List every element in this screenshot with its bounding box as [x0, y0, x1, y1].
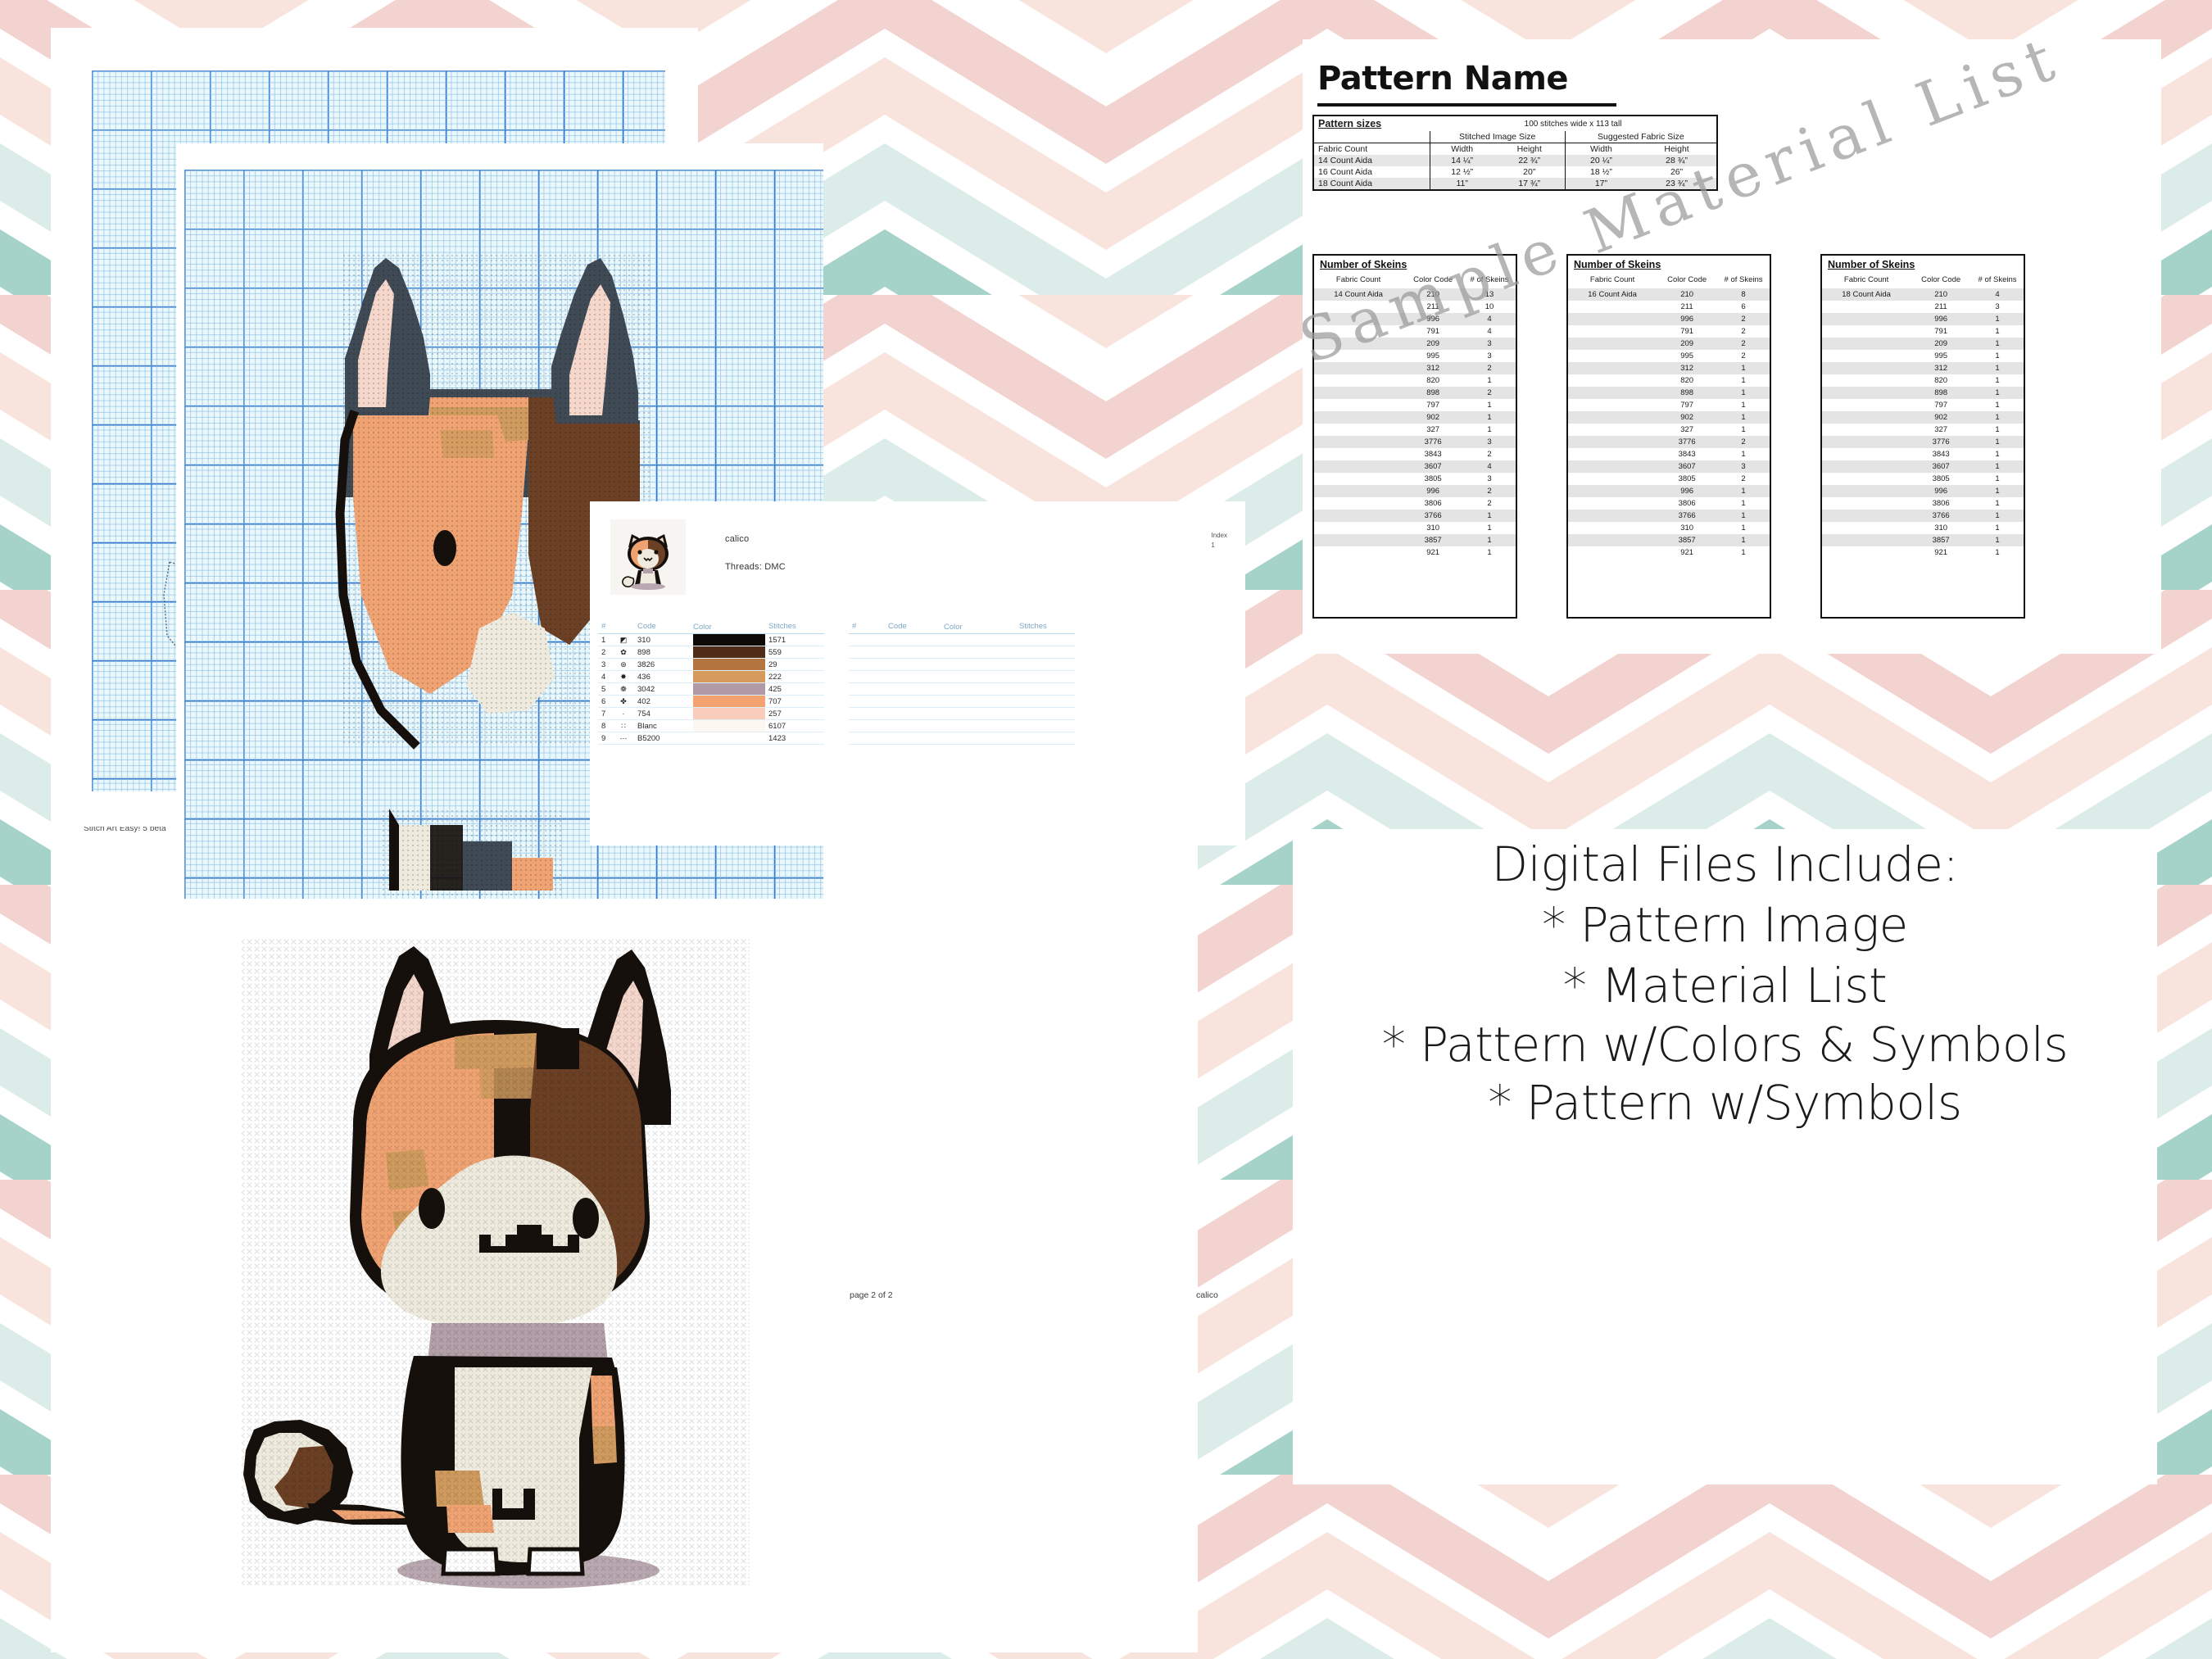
- skein-count: 3: [1463, 350, 1516, 362]
- skein-fabric-count: [1314, 448, 1403, 460]
- legend-tables: # Code Color Stitches 1◩31015712✿8985593…: [598, 620, 1237, 745]
- thread-legend-table-empty: # Code Color Stitches: [849, 620, 1075, 745]
- skein-count: 2: [1463, 448, 1516, 460]
- table-row: 8201: [1314, 374, 1516, 387]
- thread-symbol-icon: ❁: [613, 683, 634, 696]
- pattern-sizes-table: Pattern sizes 100 stitches wide x 113 ta…: [1312, 115, 1718, 191]
- skein-count: 1: [1463, 424, 1516, 436]
- skein-fabric-count: [1568, 534, 1657, 546]
- legend-pattern-title: calico: [725, 534, 749, 544]
- skein-count: 1: [1971, 473, 2024, 485]
- pattern-footer: calico: [1196, 1290, 1218, 1300]
- thread-stitch-count: 707: [765, 696, 824, 708]
- pattern-sizes-note: 100 stitches wide x 113 tall: [1430, 116, 1717, 131]
- thread-color-swatch: [693, 696, 765, 708]
- skein-color-code: 996: [1911, 313, 1971, 325]
- promo-item-2: * Pattern w/Colors & Symbols: [1312, 1017, 2139, 1072]
- skein-color-code: 327: [1911, 424, 1971, 436]
- table-row: 37661: [1314, 510, 1516, 522]
- skein-fabric-count: [1314, 534, 1403, 546]
- skein-fabric-count: [1568, 473, 1657, 485]
- skein-count: 1: [1463, 411, 1516, 424]
- skein-count: 1: [1717, 497, 1770, 510]
- table-row: 7911: [1822, 325, 2024, 338]
- skein-table: Fabric CountColor Code# of Skeins16 Coun…: [1568, 273, 1770, 559]
- skein-count: 3: [1717, 460, 1770, 473]
- skein-count: 1: [1463, 534, 1516, 546]
- pattern-sizes-body: 14 Count Aida14 ¼”22 ¾”20 ¼”28 ¾”16 Coun…: [1313, 155, 1717, 190]
- table-row: 8201: [1568, 374, 1770, 387]
- table-row: 4✸436222: [598, 671, 824, 683]
- skein-count: 1: [1971, 510, 2024, 522]
- table-row: 7912: [1568, 325, 1770, 338]
- table-row: 9961: [1822, 313, 2024, 325]
- col-header-stitched-width: Width: [1430, 143, 1494, 156]
- skein-color-code: 312: [1657, 362, 1717, 374]
- col-header-fabric-count: Fabric Count: [1314, 273, 1403, 288]
- skein-fabric-count: [1822, 534, 1911, 546]
- skein-fabric-count: [1822, 350, 1911, 362]
- skein-color-code: 3857: [1657, 534, 1717, 546]
- table-row: 8981: [1822, 387, 2024, 399]
- promo-item-0: * Pattern Image: [1542, 895, 1908, 955]
- legend-index: Index 1: [1211, 531, 1227, 550]
- skein-count: 2: [1717, 473, 1770, 485]
- thread-symbol-icon: ◩: [613, 634, 634, 646]
- skein-count: 1: [1463, 399, 1516, 411]
- skein-fabric-count: [1314, 497, 1403, 510]
- col-header-color-code: Color Code: [1911, 273, 1971, 288]
- skein-count: 1: [1971, 387, 2024, 399]
- col-header-skeins: # of Skeins: [1717, 273, 1770, 288]
- col-header-fabric-count: Fabric Count: [1313, 143, 1430, 156]
- thumbnail-cat-icon: [610, 519, 686, 595]
- skein-color-code: 797: [1911, 399, 1971, 411]
- skein-count: 10: [1463, 301, 1516, 313]
- skein-count: 3: [1463, 338, 1516, 350]
- skein-table-14count: Number of SkeinsFabric CountColor Code# …: [1312, 254, 1517, 619]
- table-row: [849, 696, 1075, 708]
- table-row: 9021: [1314, 411, 1516, 424]
- size-stitched-width: 11”: [1430, 178, 1494, 190]
- table-row: 9962: [1568, 313, 1770, 325]
- col-header-stitched-height: Height: [1494, 143, 1565, 156]
- thread-legend-page[interactable]: calico Threads: DMC Index 1 # Code Color…: [590, 501, 1245, 845]
- skein-count: 1: [1971, 460, 2024, 473]
- skein-fabric-count: [1822, 387, 1911, 399]
- col-header-stitches: Stitches: [1016, 620, 1075, 634]
- skein-table-title: Number of Skeins: [1314, 256, 1516, 273]
- pattern-sizes-column-row: Fabric Count Width Height Width Height: [1313, 143, 1717, 156]
- skein-color-code: 327: [1657, 424, 1717, 436]
- table-row: 2093: [1314, 338, 1516, 350]
- size-fabric-count: 18 Count Aida: [1313, 178, 1430, 190]
- thread-symbol-icon: ·: [613, 708, 634, 720]
- skein-fabric-count: [1822, 485, 1911, 497]
- col-header-stitches: Stitches: [765, 620, 824, 634]
- skein-count: 1: [1463, 374, 1516, 387]
- skein-count: 1: [1971, 424, 2024, 436]
- skein-color-code: 211: [1657, 301, 1717, 313]
- promo-heading: Digital Files Include:: [1492, 834, 1959, 895]
- thread-stitch-count: 222: [765, 671, 824, 683]
- skein-count: 1: [1717, 510, 1770, 522]
- thread-symbol-icon: ⋯: [613, 732, 634, 745]
- skein-color-code: 995: [1657, 350, 1717, 362]
- col-header-fabric-height: Height: [1637, 143, 1717, 156]
- table-row: 38062: [1314, 497, 1516, 510]
- skein-color-code: 921: [1911, 546, 1971, 559]
- skein-color-code: 3843: [1657, 448, 1717, 460]
- legend-index-value: 1: [1211, 542, 1214, 549]
- table-row: 9211: [1314, 546, 1516, 559]
- legend-threads-brand: Threads: DMC: [725, 562, 786, 572]
- skein-fabric-count: [1568, 350, 1657, 362]
- skein-color-code: 820: [1911, 374, 1971, 387]
- skein-fabric-count: [1568, 325, 1657, 338]
- skein-count: 1: [1463, 546, 1516, 559]
- skein-fabric-count: [1568, 485, 1657, 497]
- col-header-symbol: [613, 620, 634, 634]
- size-stitched-width: 14 ¼”: [1430, 155, 1494, 166]
- skein-count: 3: [1463, 473, 1516, 485]
- col-header-code: Code: [634, 620, 693, 634]
- skein-fabric-count: [1314, 473, 1403, 485]
- skein-color-code: 209: [1911, 338, 1971, 350]
- skein-fabric-count: 18 Count Aida: [1822, 288, 1911, 301]
- skein-fabric-count: [1822, 325, 1911, 338]
- material-list-sheet: Pattern Name Pattern sizes 100 stitches …: [1303, 39, 2161, 654]
- skein-count: 6: [1717, 301, 1770, 313]
- thread-code: 402: [634, 696, 693, 708]
- skein-fabric-count: [1822, 411, 1911, 424]
- skein-count: 1: [1971, 546, 2024, 559]
- thread-stitch-count: 257: [765, 708, 824, 720]
- col-header-number: #: [849, 620, 863, 634]
- table-row: 9211: [1568, 546, 1770, 559]
- skein-count: 2: [1717, 313, 1770, 325]
- table-row: 38431: [1822, 448, 2024, 460]
- skein-count: 4: [1971, 288, 2024, 301]
- thread-code: B5200: [634, 732, 693, 745]
- skein-count: 1: [1717, 448, 1770, 460]
- skein-fabric-count: [1568, 301, 1657, 313]
- size-fabric-height: 23 ¾”: [1637, 178, 1717, 190]
- table-row: 37661: [1822, 510, 2024, 522]
- thread-symbol-icon: ⊛: [613, 659, 634, 671]
- col-header-skeins: # of Skeins: [1971, 273, 2024, 288]
- skein-color-code: 3805: [1403, 473, 1463, 485]
- skein-count: 1: [1717, 374, 1770, 387]
- table-row: [849, 671, 1075, 683]
- group-header-stitched: Stitched Image Size: [1430, 131, 1565, 143]
- skein-count: 2: [1463, 387, 1516, 399]
- skein-color-code: 791: [1657, 325, 1717, 338]
- thread-color-swatch: [693, 634, 765, 646]
- skein-count: 2: [1463, 362, 1516, 374]
- skein-count: 1: [1717, 534, 1770, 546]
- table-row: 2116: [1568, 301, 1770, 313]
- table-row: 14 Count Aida14 ¼”22 ¾”20 ¼”28 ¾”: [1313, 155, 1717, 166]
- table-row: [849, 732, 1075, 745]
- thread-number: 9: [598, 732, 613, 745]
- skein-fabric-count: [1822, 460, 1911, 473]
- skein-count: 2: [1463, 485, 1516, 497]
- skein-fabric-count: [1822, 473, 1911, 485]
- skein-count: 1: [1971, 411, 2024, 424]
- skein-color-code: 3805: [1911, 473, 1971, 485]
- size-fabric-height: 26”: [1637, 166, 1717, 178]
- table-header-row: Fabric CountColor Code# of Skeins: [1822, 273, 2024, 288]
- table-row: 9953: [1314, 350, 1516, 362]
- col-header-color: Color: [944, 620, 1016, 634]
- skein-count: 3: [1463, 436, 1516, 448]
- skein-count: 1: [1971, 350, 2024, 362]
- skein-color-code: 995: [1911, 350, 1971, 362]
- thread-stitch-count: 29: [765, 659, 824, 671]
- size-fabric-count: 14 Count Aida: [1313, 155, 1430, 166]
- table-row: 37661: [1568, 510, 1770, 522]
- table-row: 7·754257: [598, 708, 824, 720]
- skein-count: 1: [1971, 374, 2024, 387]
- thread-code: 310: [634, 634, 693, 646]
- thread-legend-body: 1◩31015712✿8985593⊛3826294✸4362225❁30424…: [598, 634, 824, 745]
- table-row: 8201: [1822, 374, 2024, 387]
- skein-color-code: 797: [1403, 399, 1463, 411]
- skein-fabric-count: [1568, 399, 1657, 411]
- skein-color-code: 3806: [1911, 497, 1971, 510]
- skein-color-code: 898: [1657, 387, 1717, 399]
- col-header-symbol: [863, 620, 885, 634]
- table-row: 38571: [1568, 534, 1770, 546]
- skein-color-code: 211: [1911, 301, 1971, 313]
- skein-color-code: 3776: [1657, 436, 1717, 448]
- skein-fabric-count: [1822, 301, 1911, 313]
- skein-color-code: 996: [1657, 485, 1717, 497]
- skein-count: 1: [1971, 325, 2024, 338]
- skein-fabric-count: [1568, 546, 1657, 559]
- skein-count: 3: [1971, 301, 2024, 313]
- size-fabric-count: 16 Count Aida: [1313, 166, 1430, 178]
- skein-count: 1: [1971, 534, 2024, 546]
- table-row: 38571: [1314, 534, 1516, 546]
- table-row: 8∷Blanc6107: [598, 720, 824, 732]
- skein-count: 4: [1463, 325, 1516, 338]
- thread-number: 2: [598, 646, 613, 659]
- table-row: 18 Count Aida2104: [1822, 288, 2024, 301]
- skein-table-16count: Number of SkeinsFabric CountColor Code# …: [1566, 254, 1771, 619]
- table-row: 3271: [1568, 424, 1770, 436]
- skein-count: 4: [1463, 313, 1516, 325]
- skein-count: 1: [1717, 399, 1770, 411]
- table-row: [849, 659, 1075, 671]
- table-row: 14 Count Aida21013: [1314, 288, 1516, 301]
- thread-number: 3: [598, 659, 613, 671]
- skein-color-code: 3806: [1403, 497, 1463, 510]
- table-row: 38061: [1822, 497, 2024, 510]
- thread-color-swatch: [693, 708, 765, 720]
- thread-stitch-count: 1571: [765, 634, 824, 646]
- table-row: 3271: [1314, 424, 1516, 436]
- thread-symbol-icon: ∷: [613, 720, 634, 732]
- table-row: 9961: [1568, 485, 1770, 497]
- thread-color-swatch: [693, 671, 765, 683]
- table-row: 3101: [1822, 522, 2024, 534]
- skein-color-code: 996: [1911, 485, 1971, 497]
- skein-color-code: 898: [1403, 387, 1463, 399]
- table-row: 9951: [1822, 350, 2024, 362]
- skein-color-code: 791: [1403, 325, 1463, 338]
- table-row: 16 Count Aida12 ½”20”18 ½”26”: [1313, 166, 1717, 178]
- skein-fabric-count: [1314, 313, 1403, 325]
- skein-fabric-count: [1822, 374, 1911, 387]
- col-header-color: Color: [693, 620, 765, 634]
- thread-number: 1: [598, 634, 613, 646]
- skein-count: 2: [1717, 350, 1770, 362]
- thread-color-swatch: [693, 683, 765, 696]
- skein-fabric-count: [1568, 510, 1657, 522]
- skein-fabric-count: [1822, 522, 1911, 534]
- skein-color-code: 996: [1657, 313, 1717, 325]
- skein-color-code: 210: [1403, 288, 1463, 301]
- skein-color-code: 3805: [1657, 473, 1717, 485]
- skein-fabric-count: [1568, 522, 1657, 534]
- skein-fabric-count: [1314, 301, 1403, 313]
- table-header-row: # Code Color Stitches: [849, 620, 1075, 634]
- promo-item-3: * Pattern w/Symbols: [1488, 1072, 1961, 1133]
- table-row: 7971: [1568, 399, 1770, 411]
- skein-color-code: 820: [1403, 374, 1463, 387]
- skein-color-code: 211: [1403, 301, 1463, 313]
- skein-count: 1: [1971, 497, 2024, 510]
- legend-index-label: Index: [1211, 532, 1227, 539]
- col-header-number: #: [598, 620, 613, 634]
- skein-color-code: 210: [1657, 288, 1717, 301]
- table-row: 18 Count Aida11”17 ¾”17”23 ¾”: [1313, 178, 1717, 190]
- skein-color-code: 3766: [1403, 510, 1463, 522]
- skein-fabric-count: [1568, 374, 1657, 387]
- skein-count: 2: [1717, 338, 1770, 350]
- thread-number: 8: [598, 720, 613, 732]
- thread-color-swatch: [693, 646, 765, 659]
- table-header-row: Fabric CountColor Code# of Skeins: [1314, 273, 1516, 288]
- table-row: 38061: [1568, 497, 1770, 510]
- thread-symbol-icon: ✸: [613, 671, 634, 683]
- table-row: 3101: [1568, 522, 1770, 534]
- table-row: 9⋯B52001423: [598, 732, 824, 745]
- table-row: 9961: [1822, 485, 2024, 497]
- thread-stitch-count: 425: [765, 683, 824, 696]
- skein-color-code: 996: [1403, 485, 1463, 497]
- skein-color-code: 210: [1911, 288, 1971, 301]
- skein-color-code: 3857: [1911, 534, 1971, 546]
- col-header-color-code: Color Code: [1657, 273, 1717, 288]
- skein-fabric-count: [1314, 522, 1403, 534]
- skein-fabric-count: [1314, 546, 1403, 559]
- table-row: 9962: [1314, 485, 1516, 497]
- size-fabric-height: 28 ¾”: [1637, 155, 1717, 166]
- table-row: 37762: [1568, 436, 1770, 448]
- skein-fabric-count: [1822, 510, 1911, 522]
- table-row: 9021: [1822, 411, 2024, 424]
- thread-number: 6: [598, 696, 613, 708]
- calico-cat-svg: [209, 864, 782, 1602]
- thread-legend-table: # Code Color Stitches 1◩31015712✿8985593…: [598, 620, 824, 745]
- thread-stitch-count: 6107: [765, 720, 824, 732]
- thread-symbol-icon: ✿: [613, 646, 634, 659]
- skein-fabric-count: 14 Count Aida: [1314, 288, 1403, 301]
- table-row: 38571: [1822, 534, 2024, 546]
- skein-count: 2: [1717, 325, 1770, 338]
- size-stitched-height: 20”: [1494, 166, 1565, 178]
- table-row: [849, 634, 1075, 646]
- skein-count: 2: [1717, 436, 1770, 448]
- skein-color-code: 310: [1911, 522, 1971, 534]
- table-row: 9021: [1568, 411, 1770, 424]
- table-row: 38431: [1568, 448, 1770, 460]
- table-row: 36074: [1314, 460, 1516, 473]
- skein-color-code: 797: [1657, 399, 1717, 411]
- skein-count: 1: [1463, 522, 1516, 534]
- skein-count: 1: [1717, 485, 1770, 497]
- page-title: Pattern Name: [1317, 62, 1568, 95]
- table-row: 38051: [1822, 473, 2024, 485]
- col-header-fabric-count: Fabric Count: [1568, 273, 1657, 288]
- thread-code: 3826: [634, 659, 693, 671]
- skein-color-code: 3857: [1403, 534, 1463, 546]
- skein-color-code: 310: [1403, 522, 1463, 534]
- skein-color-code: 996: [1403, 313, 1463, 325]
- table-row: 21110: [1314, 301, 1516, 313]
- skein-count: 1: [1971, 362, 2024, 374]
- size-fabric-width: 18 ½”: [1565, 166, 1637, 178]
- skein-color-code: 902: [1403, 411, 1463, 424]
- skein-color-code: 209: [1657, 338, 1717, 350]
- skein-fabric-count: [1314, 424, 1403, 436]
- skein-fabric-count: [1568, 436, 1657, 448]
- skein-count: 1: [1717, 546, 1770, 559]
- table-row: 9964: [1314, 313, 1516, 325]
- skein-color-code: 312: [1403, 362, 1463, 374]
- skein-table-title: Number of Skeins: [1568, 256, 1770, 273]
- skein-count: 1: [1971, 522, 2024, 534]
- skein-fabric-count: [1568, 411, 1657, 424]
- skein-color-code: 3843: [1911, 448, 1971, 460]
- skein-count: 1: [1717, 387, 1770, 399]
- thread-number: 5: [598, 683, 613, 696]
- skein-fabric-count: [1822, 497, 1911, 510]
- skein-color-code: 898: [1911, 387, 1971, 399]
- skein-color-code: 995: [1403, 350, 1463, 362]
- thread-code: Blanc: [634, 720, 693, 732]
- table-row: 3⊛382629: [598, 659, 824, 671]
- thread-legend-body-empty: [849, 634, 1075, 745]
- col-header-color-code: Color Code: [1403, 273, 1463, 288]
- table-row: 3122: [1314, 362, 1516, 374]
- size-fabric-width: 17”: [1565, 178, 1637, 190]
- spacer-cell: [1313, 131, 1430, 143]
- skein-color-code: 820: [1657, 374, 1717, 387]
- thread-symbol-icon: ✤: [613, 696, 634, 708]
- thread-code: 436: [634, 671, 693, 683]
- skein-table: Fabric CountColor Code# of Skeins18 Coun…: [1822, 273, 2024, 559]
- table-row: 36071: [1822, 460, 2024, 473]
- table-row: 38432: [1314, 448, 1516, 460]
- table-row: 37761: [1822, 436, 2024, 448]
- skein-count: 2: [1463, 497, 1516, 510]
- skein-fabric-count: [1314, 387, 1403, 399]
- skein-count: 1: [1717, 362, 1770, 374]
